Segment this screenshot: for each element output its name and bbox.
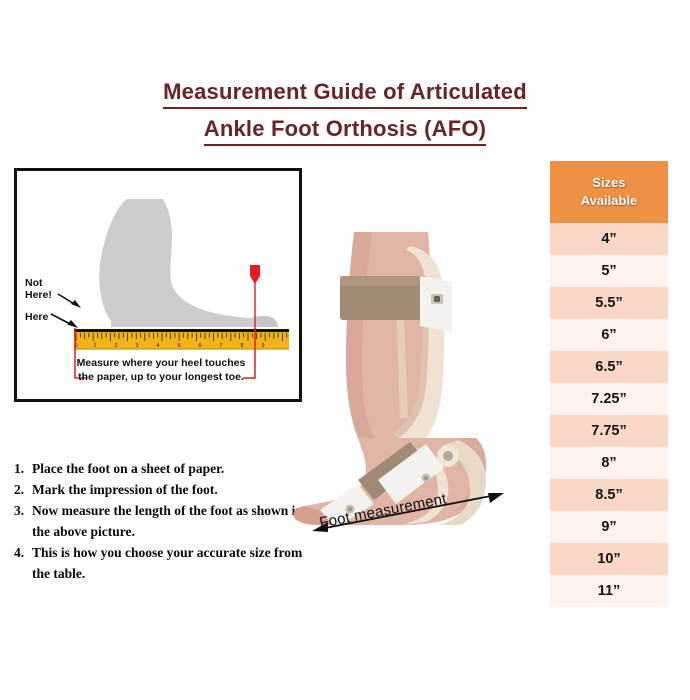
list-item-text: This is how you choose your accurate siz…: [32, 542, 304, 584]
label-not-here: Not Here!: [25, 277, 52, 302]
size-value: 8.5”: [595, 487, 622, 503]
table-row: 7.75”: [550, 415, 668, 447]
list-item-number: 4.: [14, 542, 32, 563]
list-item-text: Now measure the length of the foot as sh…: [32, 500, 304, 542]
list-item-text: Place the foot on a sheet of paper.: [32, 458, 304, 479]
table-row: 8”: [550, 447, 668, 479]
measurement-diagram: Not Here! Here: [17, 171, 299, 399]
list-item: 3. Now measure the length of the foot as…: [14, 500, 304, 542]
sizes-header-line-1: Sizes: [592, 174, 625, 192]
table-row: 5.5”: [550, 287, 668, 319]
list-item: 1. Place the foot on a sheet of paper.: [14, 458, 304, 479]
size-value: 7.25”: [591, 391, 626, 407]
instructions-list: 1. Place the foot on a sheet of paper. 2…: [14, 458, 304, 584]
diagram-caption: Measure where your heel touches the pape…: [45, 357, 277, 384]
toe-marker-icon: [247, 264, 263, 334]
list-item: 2. Mark the impression of the foot.: [14, 479, 304, 500]
size-value: 4”: [601, 231, 616, 247]
table-row: 11”: [550, 575, 668, 607]
size-value: 5.5”: [595, 295, 622, 311]
label-here: Here: [25, 311, 48, 323]
table-row: 8.5”: [550, 479, 668, 511]
table-row: 9”: [550, 511, 668, 543]
list-item-number: 2.: [14, 479, 32, 500]
list-item-number: 3.: [14, 500, 32, 521]
size-value: 8”: [601, 455, 616, 471]
table-row: 4”: [550, 223, 668, 255]
page-title-line-2: Ankle Foot Orthosis (AFO): [204, 115, 486, 146]
page-title: Measurement Guide of Articulated Ankle F…: [0, 78, 690, 146]
table-row: 6.5”: [550, 351, 668, 383]
diagram-caption-line-2: the paper, up to your longest toe.: [45, 371, 277, 385]
size-value: 6.5”: [595, 359, 622, 375]
list-item: 4. This is how you choose your accurate …: [14, 542, 304, 584]
size-value: 10”: [597, 551, 620, 567]
size-value: 5”: [601, 263, 616, 279]
measurement-guide-page: Measurement Guide of Articulated Ankle F…: [0, 0, 690, 700]
table-row: 6”: [550, 319, 668, 351]
sizes-header-line-2: Available: [581, 192, 638, 210]
table-row: 10”: [550, 543, 668, 575]
list-item-text: Mark the impression of the foot.: [32, 479, 304, 500]
diagram-caption-line-1: Measure where your heel touches: [45, 357, 277, 371]
measurement-diagram-box: Not Here! Here: [14, 168, 302, 402]
not-here-arrow-icon: [57, 292, 83, 310]
sizes-available-table: Sizes Available 4” 5” 5.5” 6” 6.5” 7.25”…: [550, 161, 668, 607]
table-row: 5”: [550, 255, 668, 287]
page-title-line-1: Measurement Guide of Articulated: [163, 78, 527, 109]
sizes-table-header: Sizes Available: [550, 161, 668, 223]
table-row: 7.25”: [550, 383, 668, 415]
afo-product-photo: [292, 232, 522, 532]
size-value: 9”: [601, 519, 616, 535]
size-value: 11”: [598, 583, 621, 599]
size-value: 7.75”: [591, 423, 626, 439]
list-item-number: 1.: [14, 458, 32, 479]
size-value: 6”: [601, 327, 616, 343]
